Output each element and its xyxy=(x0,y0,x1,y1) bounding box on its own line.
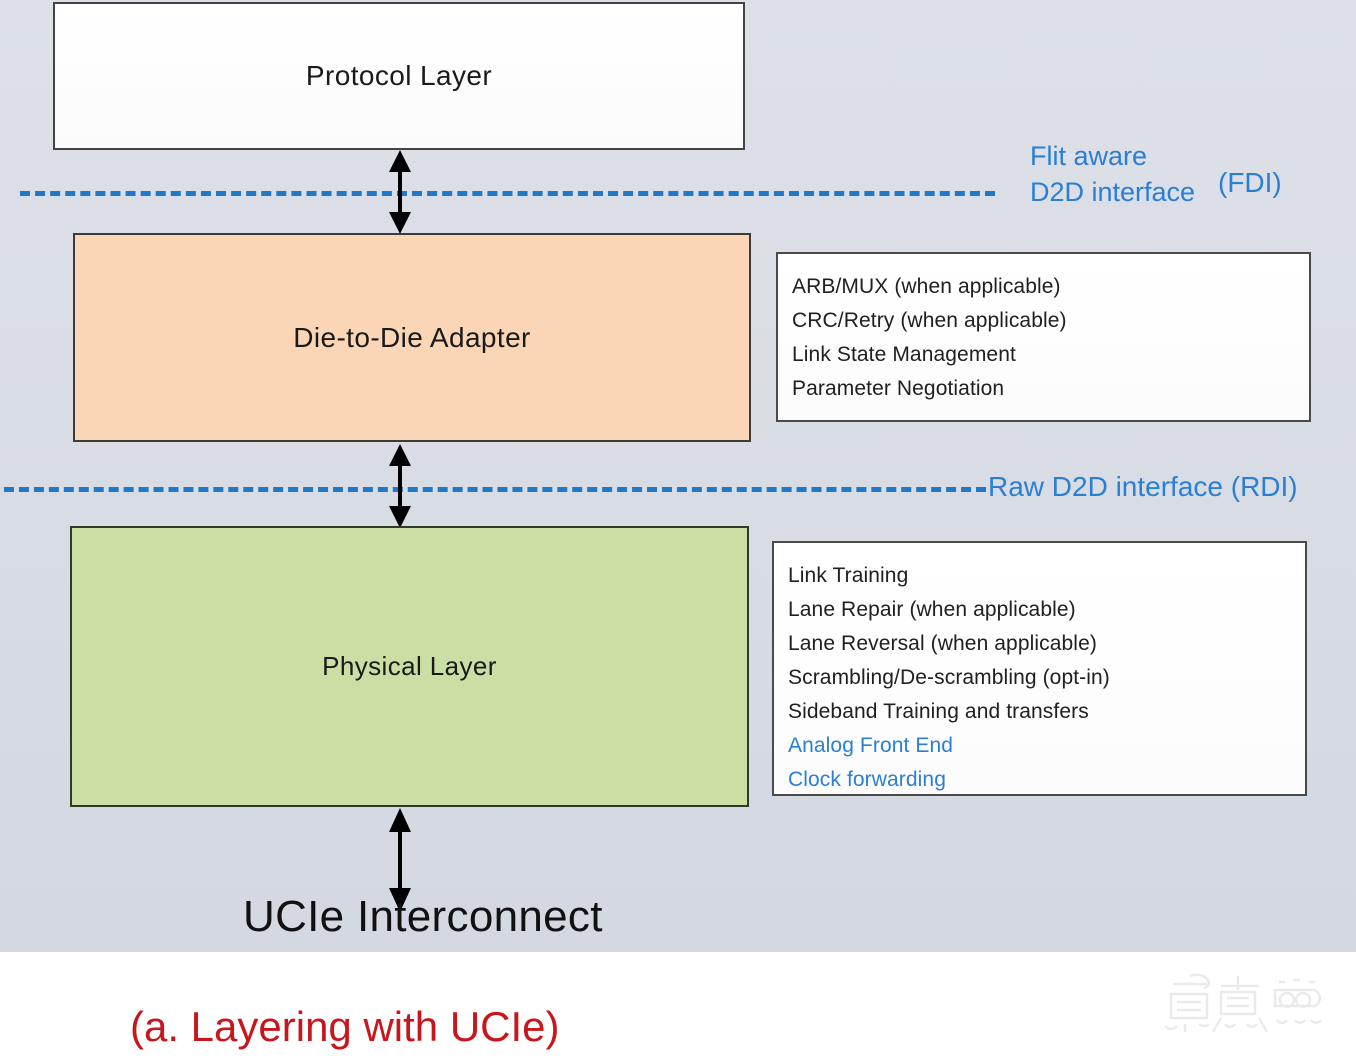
adapter-feature-item: CRC/Retry (when applicable) xyxy=(792,304,1309,338)
adapter-to-phy-arrow xyxy=(382,444,418,528)
phy-feature-item: Lane Reversal (when applicable) xyxy=(788,627,1305,661)
protocol-to-adapter-arrow xyxy=(382,150,418,234)
physical-layer-box[interactable]: Physical Layer xyxy=(70,526,749,807)
diagram-panel: Protocol Layer Flit aware D2D interface … xyxy=(0,0,1356,952)
phy-feature-list: Link Training Lane Repair (when applicab… xyxy=(772,541,1307,796)
adapter-feature-item: ARB/MUX (when applicable) xyxy=(792,270,1309,304)
phy-feature-item: Analog Front End xyxy=(788,729,1305,763)
figure-caption: (a. Layering with UCIe) xyxy=(130,1003,560,1051)
phy-feature-item: Scrambling/De-scrambling (opt-in) xyxy=(788,661,1305,695)
adapter-feature-item: Link State Management xyxy=(792,338,1309,372)
fdi-interface-label: Flit aware D2D interface xyxy=(1030,139,1195,210)
adapter-feature-list: ARB/MUX (when applicable) CRC/Retry (whe… xyxy=(776,252,1311,422)
phy-feature-item: Sideband Training and transfers xyxy=(788,695,1305,729)
zhidongxi-logo-watermark xyxy=(1155,968,1335,1046)
figure-root: Protocol Layer Flit aware D2D interface … xyxy=(0,0,1356,1062)
physical-layer-label: Physical Layer xyxy=(322,651,497,682)
fdi-abbreviation: (FDI) xyxy=(1218,167,1282,199)
adapter-feature-item: Parameter Negotiation xyxy=(792,372,1309,406)
phy-feature-item: Clock forwarding xyxy=(788,763,1305,797)
die-to-die-adapter-box[interactable]: Die-to-Die Adapter xyxy=(73,233,751,442)
fdi-dashed-line xyxy=(20,191,995,196)
phy-feature-item: Link Training xyxy=(788,559,1305,593)
ucie-interconnect-label: UCIe Interconnect xyxy=(243,892,603,942)
protocol-layer-label: Protocol Layer xyxy=(306,60,492,92)
fdi-label-line1: Flit aware xyxy=(1030,139,1195,175)
die-to-die-adapter-label: Die-to-Die Adapter xyxy=(293,322,531,354)
rdi-interface-label: Raw D2D interface (RDI) xyxy=(988,471,1298,503)
rdi-dashed-line xyxy=(4,487,986,492)
phy-feature-item: Lane Repair (when applicable) xyxy=(788,593,1305,627)
protocol-layer-box[interactable]: Protocol Layer xyxy=(53,2,745,150)
fdi-label-line2: D2D interface xyxy=(1030,175,1195,211)
